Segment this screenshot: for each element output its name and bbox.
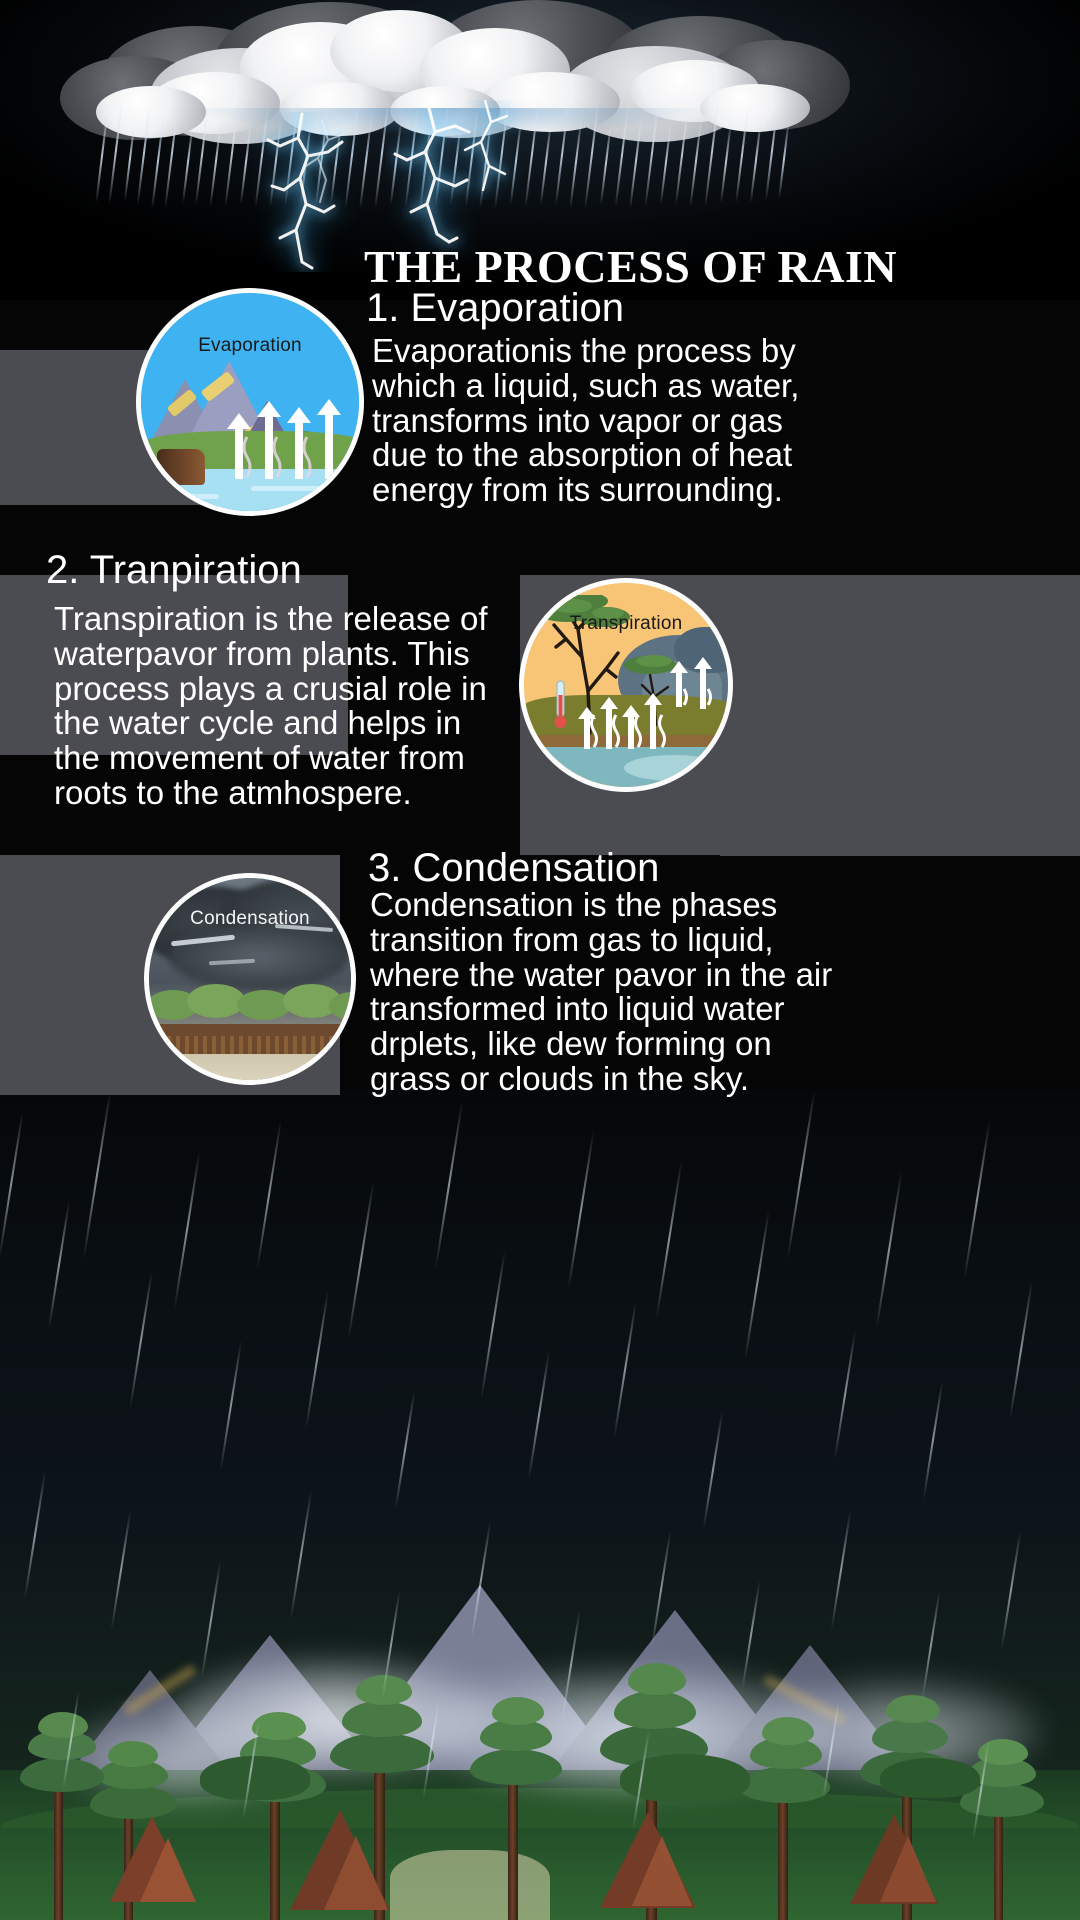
condensation-illustration-circle: Condensation bbox=[144, 873, 356, 1085]
cond-tree-line bbox=[144, 982, 356, 1024]
poster-canvas: Evaporation THE PROCESS OF RAIN 1. Evapo… bbox=[0, 0, 1080, 1920]
cond-dark-cloud bbox=[169, 924, 349, 990]
transpiration-arrows-icon bbox=[576, 647, 722, 751]
evap-water-ripple bbox=[159, 494, 219, 499]
section-3-heading: 3. Condensation bbox=[368, 846, 659, 891]
section-3-body: Condensation is the phases transition fr… bbox=[370, 888, 840, 1097]
section-3-band-top bbox=[720, 840, 1080, 856]
evaporation-arrows-icon bbox=[225, 371, 343, 481]
section-1-heading: 1. Evaporation bbox=[366, 286, 624, 331]
transp-water-highlight bbox=[624, 755, 724, 781]
lightning-bolt-icon bbox=[300, 120, 360, 206]
forest-rain-overlay bbox=[0, 1090, 1080, 1920]
evaporation-illustration-circle: Evaporation bbox=[136, 288, 364, 516]
section-1-body: Evaporationis the process by which a liq… bbox=[372, 334, 828, 508]
transpiration-circle-label: Transpiration bbox=[524, 613, 728, 635]
cond-bridge-rails bbox=[149, 1036, 356, 1054]
cond-bridge-deck bbox=[149, 1024, 356, 1036]
thermometer-icon bbox=[552, 679, 570, 731]
lightning-bolt-icon bbox=[455, 100, 525, 200]
evap-tree-stump bbox=[157, 449, 205, 485]
evaporation-circle-label: Evaporation bbox=[141, 335, 359, 357]
evap-water-ripple bbox=[251, 486, 321, 491]
forest-rain-scene bbox=[0, 1090, 1080, 1920]
section-2-body: Transpiration is the release of waterpav… bbox=[54, 602, 514, 811]
section-2-heading: 2. Tranpiration bbox=[46, 548, 302, 593]
transpiration-illustration-circle: Transpiration bbox=[519, 578, 733, 792]
condensation-circle-label: Condensation bbox=[149, 908, 351, 930]
